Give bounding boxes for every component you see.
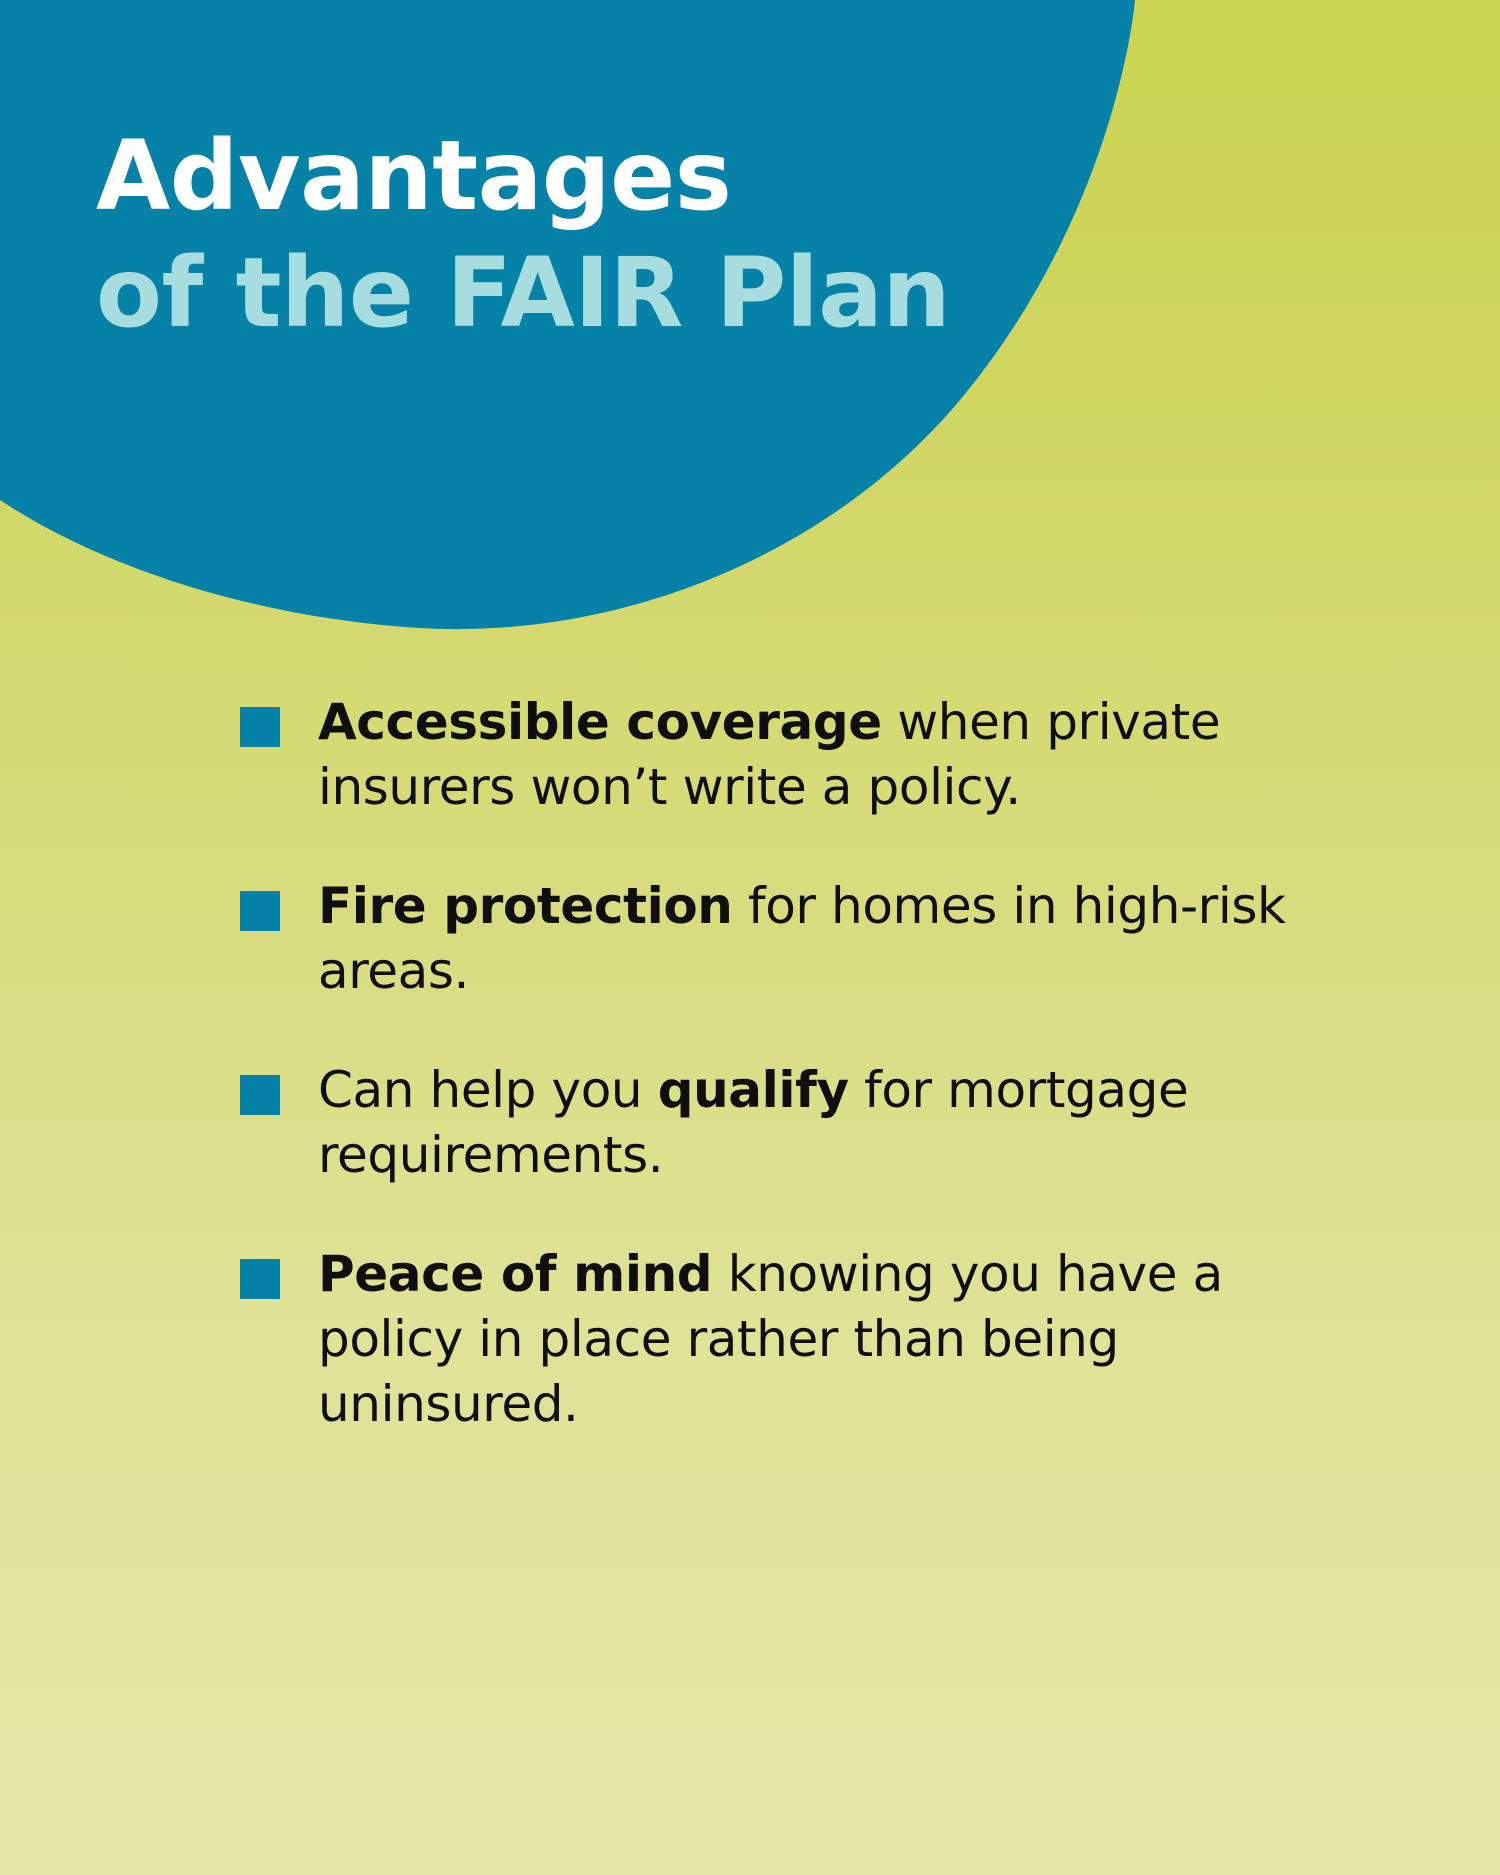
list-item-emphasis: qualify bbox=[658, 1061, 849, 1119]
page-title-line-2-prefix: of the bbox=[96, 237, 446, 349]
page-title: Advantages of the FAIR Plan bbox=[96, 118, 1076, 352]
list-item-emphasis: Peace of mind bbox=[318, 1245, 712, 1303]
page-title-line-2: of the FAIR Plan bbox=[96, 235, 1076, 352]
list-item-text: Peace of mind knowing you have a policy … bbox=[318, 1242, 1300, 1437]
square-bullet-icon bbox=[240, 891, 280, 931]
list-item-emphasis: Accessible coverage bbox=[318, 693, 882, 751]
advantages-list: Accessible coverage when private insurer… bbox=[240, 690, 1300, 1437]
list-item: Can help you qualify for mortgage requir… bbox=[240, 1058, 1300, 1188]
poster-canvas: Advantages of the FAIR Plan Accessible c… bbox=[0, 0, 1500, 1875]
square-bullet-icon bbox=[240, 1075, 280, 1115]
list-item: Accessible coverage when private insurer… bbox=[240, 690, 1300, 820]
page-title-fair-plan: FAIR Plan bbox=[446, 237, 950, 349]
list-item: Peace of mind knowing you have a policy … bbox=[240, 1242, 1300, 1437]
list-item-lead: Can help you bbox=[318, 1061, 658, 1119]
list-item-text: Can help you qualify for mortgage requir… bbox=[318, 1058, 1300, 1188]
page-title-line-1: Advantages bbox=[96, 118, 1076, 235]
list-item-text: Fire protection for homes in high-risk a… bbox=[318, 874, 1300, 1004]
list-item-emphasis: Fire protection bbox=[318, 877, 733, 935]
square-bullet-icon bbox=[240, 1259, 280, 1299]
list-item-text: Accessible coverage when private insurer… bbox=[318, 690, 1300, 820]
square-bullet-icon bbox=[240, 707, 280, 747]
list-item: Fire protection for homes in high-risk a… bbox=[240, 874, 1300, 1004]
